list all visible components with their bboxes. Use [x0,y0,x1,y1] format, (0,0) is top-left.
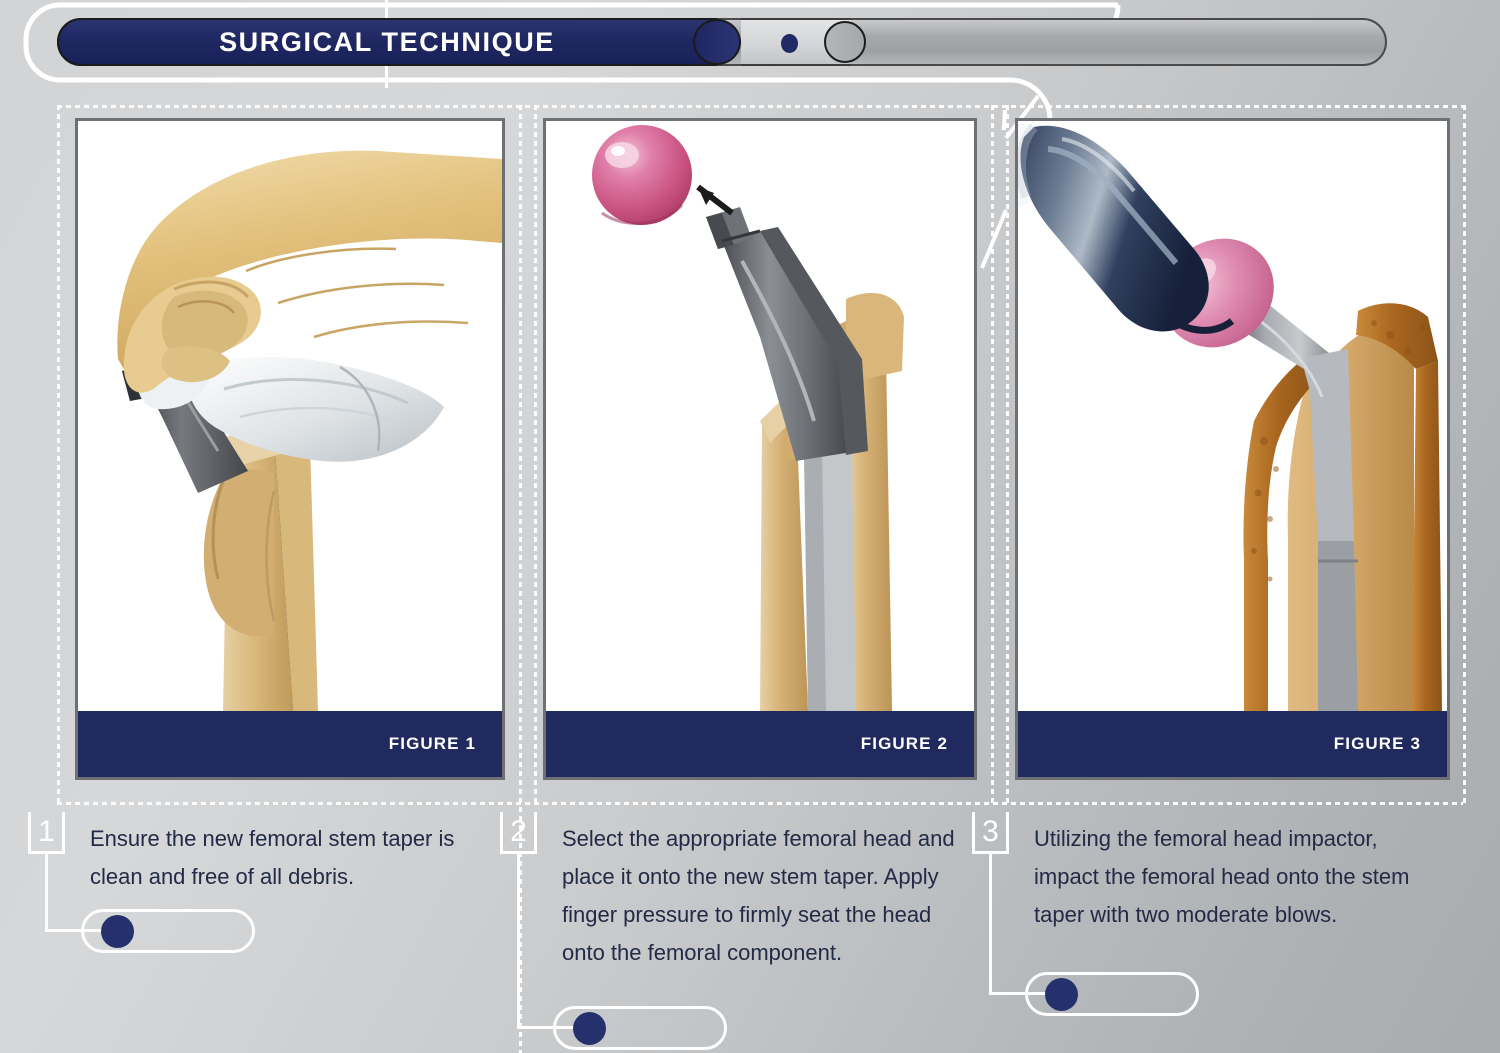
decor-vertical-hairline-top-left [385,0,388,18]
step-1-connector-vertical [45,854,48,932]
figure-row: FIGURE 1 [0,118,1500,782]
header-ring-icon [824,21,866,63]
page-title: SURGICAL TECHNIQUE [57,18,717,66]
surgical-technique-header: SURGICAL TECHNIQUE [57,18,1387,66]
direction-arrow-icon [698,187,732,213]
step-3-progress-dot-icon [1045,978,1078,1011]
step-3-connector-vertical [989,854,992,995]
figure-2-caption: FIGURE 2 [546,711,974,777]
step-1-progress-pill [81,909,255,953]
step-3-text: Utilizing the femoral head impactor, imp… [1034,820,1434,934]
figure-3-illustration [1018,121,1447,711]
step-1-progress-dot-icon [101,915,134,948]
figure-card-2: FIGURE 2 [543,118,977,780]
step-3-progress-pill [1025,972,1199,1016]
step-2-connector-vertical [517,854,520,1029]
figure-card-3: FIGURE 3 [1015,118,1450,780]
step-2-progress-pill [553,1006,727,1050]
step-1-number: 1 [28,812,65,854]
figure-1-caption: FIGURE 1 [78,711,502,777]
header-light-segment-bottom-edge [741,64,851,66]
femoral-head-over-taper-icon [546,121,974,711]
figure-3-caption: FIGURE 3 [1018,711,1447,777]
step-2-progress-dot-icon [573,1012,606,1045]
header-light-segment-top-edge [741,18,851,20]
step-2-number: 2 [500,812,537,854]
step-1-text: Ensure the new femoral stem taper is cle… [90,820,490,896]
header-bullet-dot-icon [781,34,798,53]
figure-card-1: FIGURE 1 [75,118,505,780]
steps-row: 1 Ensure the new femoral stem taper is c… [0,800,1500,1053]
impactor-seating-head-icon [1018,121,1447,711]
step-2-text: Select the appropriate femoral head and … [562,820,962,972]
hand-wiping-taper-icon [78,121,502,711]
step-3-number: 3 [972,812,1009,854]
figure-2-illustration [546,121,974,711]
figure-1-illustration [78,121,502,711]
decor-vertical-hairline-top-left-lower [385,66,388,88]
decor-dotted-line-top [57,105,1463,108]
